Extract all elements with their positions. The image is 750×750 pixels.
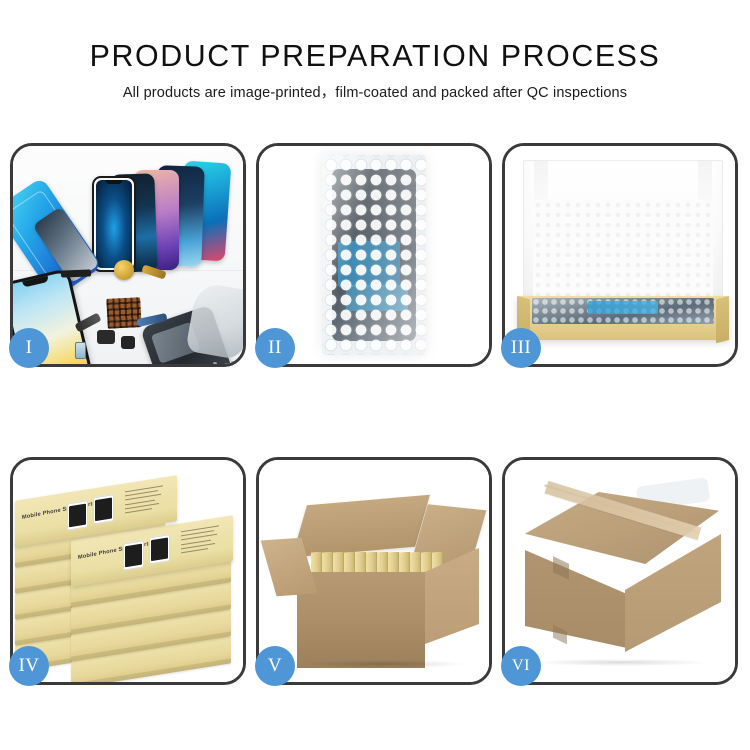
step-badge-2: II bbox=[255, 328, 295, 368]
vibrator-part-icon bbox=[114, 260, 134, 280]
drop-shadow bbox=[535, 659, 707, 666]
box-product-photo bbox=[93, 494, 114, 524]
step-3-image bbox=[505, 146, 735, 364]
battery-part-icon bbox=[75, 342, 86, 359]
step-badge-5: V bbox=[255, 646, 295, 686]
box-product-photo bbox=[123, 540, 144, 570]
step-5-image bbox=[259, 460, 489, 682]
screws-icon bbox=[213, 360, 239, 364]
connector-part-icon bbox=[97, 330, 115, 344]
phone-screen-icon bbox=[92, 176, 136, 272]
product-preparation-process-page: PRODUCT PREPARATION PROCESS All products… bbox=[0, 0, 750, 750]
process-step-panel-5[interactable]: V bbox=[256, 457, 492, 685]
box-product-photo bbox=[149, 534, 170, 564]
step-6-image bbox=[505, 460, 735, 682]
process-step-panel-1[interactable]: I bbox=[10, 143, 246, 367]
wrapped-product-in-box bbox=[532, 298, 714, 324]
bubble-wrap-package-icon bbox=[322, 155, 426, 355]
page-header: PRODUCT PREPARATION PROCESS All products… bbox=[0, 36, 750, 103]
speaker-part-icon bbox=[61, 269, 91, 277]
connector-part-icon bbox=[121, 336, 135, 349]
page-subtitle: All products are image-printed，film-coat… bbox=[0, 83, 750, 103]
stacked-boxes-icon: Mobile Phone Spare Parts Mobile Phone Sp… bbox=[13, 460, 243, 682]
page-title: PRODUCT PREPARATION PROCESS bbox=[8, 36, 743, 76]
step-4-image: Mobile Phone Spare Parts Mobile Phone Sp… bbox=[13, 460, 243, 682]
process-step-panel-6[interactable]: VI bbox=[502, 457, 738, 685]
step-badge-6: VI bbox=[501, 646, 541, 686]
process-step-panel-3[interactable]: III bbox=[502, 143, 738, 367]
step-badge-1: I bbox=[9, 328, 49, 368]
chip-part-icon bbox=[106, 297, 142, 329]
box-product-photo bbox=[67, 500, 88, 530]
plastic-sheen bbox=[322, 155, 426, 355]
step-badge-3: III bbox=[501, 328, 541, 368]
box-spec-lines bbox=[181, 524, 225, 561]
process-step-panel-4[interactable]: Mobile Phone Spare Parts Mobile Phone Sp… bbox=[10, 457, 246, 685]
step-1-image bbox=[13, 146, 243, 364]
carton-front-face bbox=[297, 572, 425, 668]
step-2-image bbox=[259, 146, 489, 364]
process-step-panel-2[interactable]: II bbox=[256, 143, 492, 367]
foam-padding-icon bbox=[533, 200, 713, 300]
box-spec-lines bbox=[125, 484, 169, 521]
step-badge-4: IV bbox=[9, 646, 49, 686]
process-step-grid: I II III bbox=[10, 143, 739, 685]
drop-shadow bbox=[301, 660, 467, 668]
